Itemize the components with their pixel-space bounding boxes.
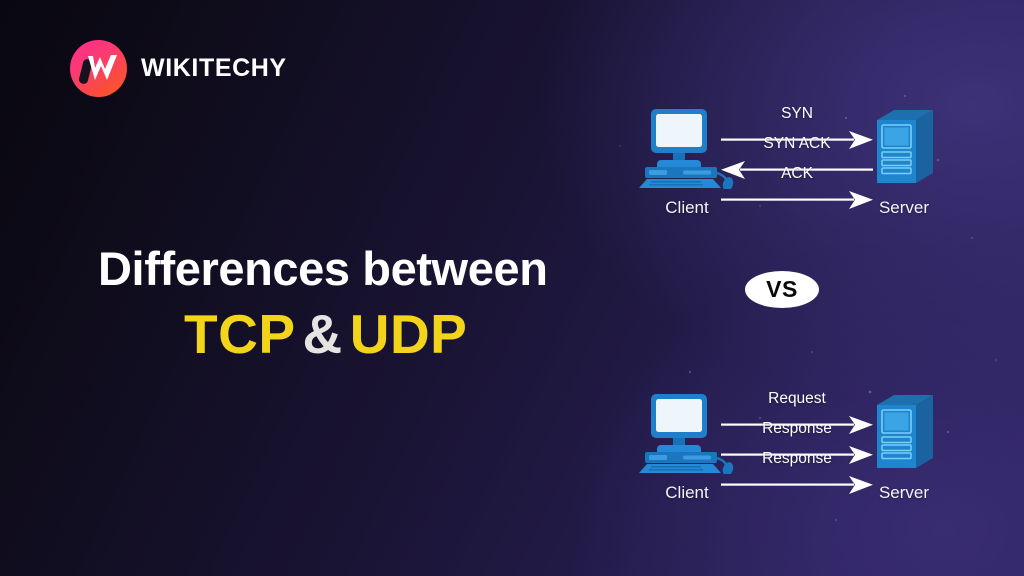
tcp-arrow-row-3: ACK (721, 169, 873, 199)
udp-arrow-label-3: Response (721, 451, 873, 467)
tcp-arrow-label-2: SYN ACK (721, 136, 873, 152)
udp-message-arrows: Request Response Response (721, 394, 873, 484)
diagram-tcp-handshake: Client SYN SYN ACK ACK (625, 105, 955, 230)
versus-label: VS (766, 276, 798, 303)
arrow-right-icon (721, 191, 873, 213)
server-tower-icon (863, 107, 945, 189)
versus-badge: VS (745, 271, 819, 308)
tcp-arrow-label-1: SYN (721, 106, 873, 122)
diagram-udp-datagrams: Client Request Response Response (625, 390, 955, 515)
arrow-right-icon (721, 476, 873, 498)
server-tower-icon (863, 392, 945, 474)
headline-line-2: TCP&UDP (98, 304, 548, 365)
udp-server-label: Server (863, 483, 945, 503)
logo-w-glyph (87, 54, 119, 82)
udp-arrow-label-1: Request (721, 391, 873, 407)
tcp-arrow-label-3: ACK (721, 166, 873, 182)
protocol-tcp: TCP (184, 303, 296, 365)
brand-name: WIKITECHY (141, 54, 287, 83)
slide-canvas: WIKITECHY Differences between TCP&UDP VS (0, 0, 1024, 576)
brand-logo[interactable]: WIKITECHY (70, 40, 287, 97)
page-title: Differences between TCP&UDP (98, 243, 548, 364)
wikitechy-w-logo-icon (70, 40, 127, 97)
udp-arrow-label-2: Response (721, 421, 873, 437)
tcp-server-node: Server (863, 107, 945, 218)
tcp-server-label: Server (863, 198, 945, 218)
tcp-message-arrows: SYN SYN ACK ACK (721, 109, 873, 199)
protocol-udp: UDP (350, 303, 468, 365)
headline-line-1: Differences between (98, 243, 548, 296)
udp-arrow-row-3: Response (721, 454, 873, 484)
ampersand: & (296, 303, 350, 365)
udp-server-node: Server (863, 392, 945, 503)
